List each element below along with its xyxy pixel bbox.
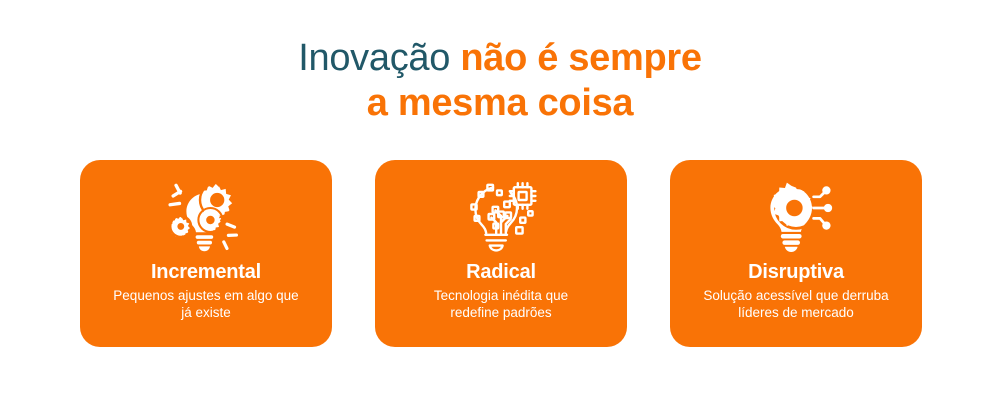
card-description-line-2: já existe (181, 305, 231, 320)
card-description-incremental: Pequenos ajustes em algo que já existe (80, 287, 332, 321)
card-title-disruptiva: Disruptiva (748, 260, 844, 284)
card-radical[interactable]: Radical Tecnologia inédita que redefine … (375, 160, 627, 347)
card-description-radical: Tecnologia inédita que redefine padrões (375, 287, 627, 321)
card-incremental[interactable]: Incremental Pequenos ajustes em algo que… (80, 160, 332, 347)
card-disruptiva[interactable]: Disruptiva Solução acessível que derruba… (670, 160, 922, 347)
page-title-plain-text: Inovação (298, 37, 460, 79)
card-description-disruptiva: Solução acessível que derruba líderes de… (670, 287, 922, 321)
page-title-accent-text-2: a mesma coisa (367, 82, 634, 124)
card-description-line-1: Pequenos ajustes em algo que (113, 288, 298, 303)
page-title-line-2: a mesma coisa (0, 81, 1000, 126)
card-description-line-2: líderes de mercado (738, 305, 854, 320)
card-title-incremental: Incremental (151, 260, 261, 284)
page-title-line-1: Inovação não é sempre (0, 36, 1000, 81)
card-title-radical: Radical (466, 260, 536, 284)
card-description-line-1: Solução acessível que derruba (703, 288, 888, 303)
lightbulb-gears-icon (166, 176, 246, 256)
lightbulb-gear-network-icon (756, 176, 836, 256)
page-title-accent-text: não é sempre (460, 37, 701, 79)
card-description-line-1: Tecnologia inédita que (434, 288, 568, 303)
innovation-types-infographic: Inovação não é sempre a mesma coisa (0, 0, 1000, 400)
card-description-line-2: redefine padrões (450, 305, 551, 320)
lightbulb-circuit-chip-icon (461, 176, 541, 256)
innovation-cards-row: Incremental Pequenos ajustes em algo que… (80, 160, 922, 347)
page-title: Inovação não é sempre a mesma coisa (0, 36, 1000, 126)
